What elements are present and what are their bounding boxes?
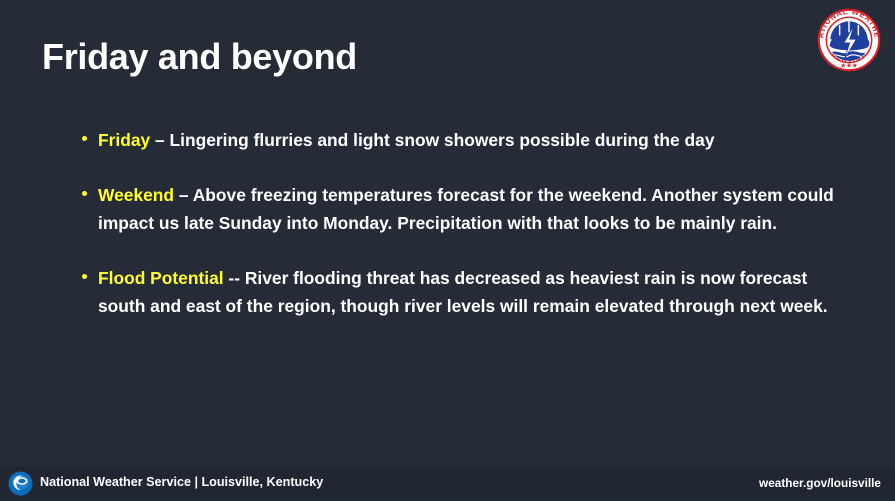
footer-bar: National Weather Service | Louisville, K… [0,467,895,500]
bullet-dot-icon [82,191,87,196]
bullet-list: Friday – Lingering flurries and light sn… [78,126,838,321]
page-title: Friday and beyond [42,36,357,78]
list-item: Weekend – Above freezing temperatures fo… [78,181,838,238]
bullet-dot-icon [82,136,87,141]
list-item: Flood Potential -- River flooding threat… [78,264,838,321]
bullet-text-friday: – Lingering flurries and light snow show… [150,130,714,150]
footer-website-link[interactable]: weather.gov/louisville [759,476,881,490]
svg-text:★: ★ [840,62,846,69]
nws-seal-icon: NATIONAL WEATHER SERVICE [813,4,885,76]
bullet-text-weekend: – Above freezing temperatures forecast f… [98,185,834,234]
list-item: Friday – Lingering flurries and light sn… [78,126,838,155]
bullet-lead-flood-potential: Flood Potential [98,268,224,288]
bullet-dot-icon [82,274,87,279]
slide-canvas: Friday and beyond NATIONAL WEATHER SERVI… [0,0,895,500]
footer-office-label: National Weather Service | Louisville, K… [40,475,323,489]
bullet-lead-friday: Friday [98,130,150,150]
svg-text:★: ★ [852,62,858,69]
bullet-lead-weekend: Weekend [98,185,174,205]
svg-text:★: ★ [846,62,852,69]
noaa-logo-icon [8,471,33,496]
